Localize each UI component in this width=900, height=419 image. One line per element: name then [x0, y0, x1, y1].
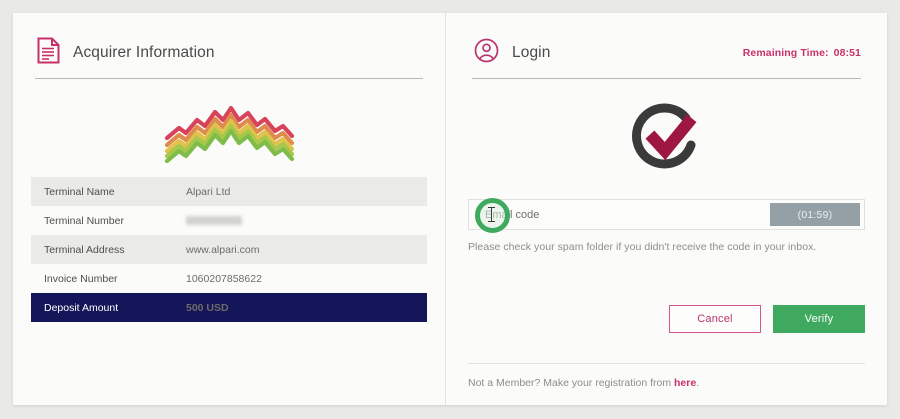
acquirer-title: Acquirer Information [73, 44, 215, 62]
redaction-block [186, 216, 242, 225]
registration-link[interactable]: here [674, 377, 696, 389]
app-root: Acquirer Information Termi [0, 0, 900, 419]
row-label: Terminal Name [31, 177, 173, 206]
acquirer-header-rule [35, 78, 423, 79]
login-title: Login [512, 44, 550, 62]
remaining-time-value: 08:51 [834, 47, 861, 59]
row-value: 500 USD [173, 293, 427, 322]
resend-code-timer-button[interactable]: (01:59) [770, 203, 860, 226]
spam-folder-note: Please check your spam folder if you did… [468, 241, 865, 253]
email-code-input[interactable] [469, 200, 770, 229]
document-icon [37, 37, 60, 69]
verify-button[interactable]: Verify [773, 305, 865, 333]
row-value: 1060207858622 [173, 264, 427, 293]
acquirer-info-table: Terminal Name Alpari Ltd Terminal Number… [31, 177, 427, 322]
alpari-wave-logo [31, 91, 427, 169]
acquirer-information-panel: Acquirer Information Termi [13, 13, 445, 405]
remaining-time: Remaining Time:08:51 [743, 47, 865, 59]
acquirer-header: Acquirer Information [31, 35, 427, 71]
row-label: Terminal Address [31, 235, 173, 264]
remaining-time-label: Remaining Time: [743, 47, 829, 59]
registration-text-after: . [696, 377, 699, 389]
footer-rule [468, 363, 865, 364]
login-header-rule [472, 78, 861, 79]
table-row: Terminal Name Alpari Ltd [31, 177, 427, 206]
user-circle-icon [474, 38, 499, 68]
login-header: Login Remaining Time:08:51 [468, 35, 865, 71]
registration-text-before: Not a Member? Make your registration fro… [468, 377, 674, 389]
row-label: Terminal Number [31, 206, 173, 235]
table-row: Terminal Address www.alpari.com [31, 235, 427, 264]
payment-card: Acquirer Information Termi [13, 13, 887, 405]
cancel-button[interactable]: Cancel [669, 305, 761, 333]
row-label: Invoice Number [31, 264, 173, 293]
row-value-redacted [173, 206, 427, 235]
action-buttons: Cancel Verify [669, 305, 865, 333]
check-circle-icon [468, 97, 865, 183]
row-label: Deposit Amount [31, 293, 173, 322]
email-code-row: (01:59) [468, 199, 865, 230]
table-row: Terminal Number [31, 206, 427, 235]
table-row: Invoice Number 1060207858622 [31, 264, 427, 293]
row-value: Alpari Ltd [173, 177, 427, 206]
table-row-deposit: Deposit Amount 500 USD [31, 293, 427, 322]
login-panel: Login Remaining Time:08:51 (01:59) Pleas… [446, 13, 887, 405]
registration-note: Not a Member? Make your registration fro… [468, 377, 699, 389]
row-value: www.alpari.com [173, 235, 427, 264]
